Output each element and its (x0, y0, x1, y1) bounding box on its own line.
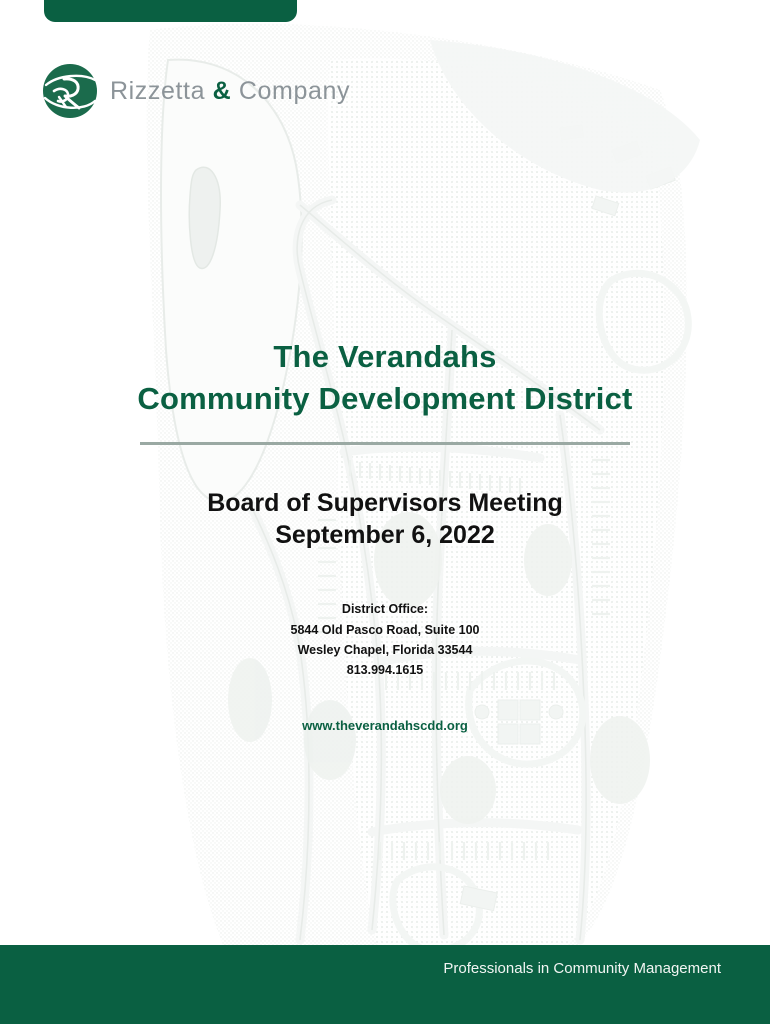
brand-name-part1: Rizzetta (110, 77, 205, 105)
brand-name: Rizzetta & Company (110, 77, 350, 106)
district-website-link[interactable]: www.theverandahscdd.org (302, 718, 468, 733)
cover-center-block: The Verandahs Community Development Dist… (0, 336, 770, 735)
brand-header: Rizzetta & Company (42, 63, 350, 119)
office-phone: 813.994.1615 (0, 660, 770, 680)
rizzetta-circle-r-logo-icon (42, 63, 98, 119)
meeting-block: Board of Supervisors Meeting September 6… (0, 487, 770, 551)
top-green-tab (44, 0, 297, 22)
office-address-line2: Wesley Chapel, Florida 33544 (0, 640, 770, 660)
district-office-block: District Office: 5844 Old Pasco Road, Su… (0, 599, 770, 680)
district-title-line2: Community Development District (137, 381, 632, 416)
brand-ampersand: & (213, 77, 232, 105)
meeting-name: Board of Supervisors Meeting (0, 487, 770, 519)
brand-name-part2: Company (239, 77, 350, 105)
footer-bar: Professionals in Community Management (0, 945, 770, 1024)
office-heading: District Office: (0, 599, 770, 619)
title-divider (140, 442, 630, 445)
district-title-line1: The Verandahs (273, 339, 496, 374)
office-address-line1: 5844 Old Pasco Road, Suite 100 (0, 620, 770, 640)
footer-tagline: Professionals in Community Management (443, 960, 721, 977)
cover-page: Rizzetta & Company The Verandahs Communi… (0, 0, 770, 1024)
district-title: The Verandahs Community Development Dist… (0, 336, 770, 420)
meeting-date: September 6, 2022 (0, 519, 770, 551)
